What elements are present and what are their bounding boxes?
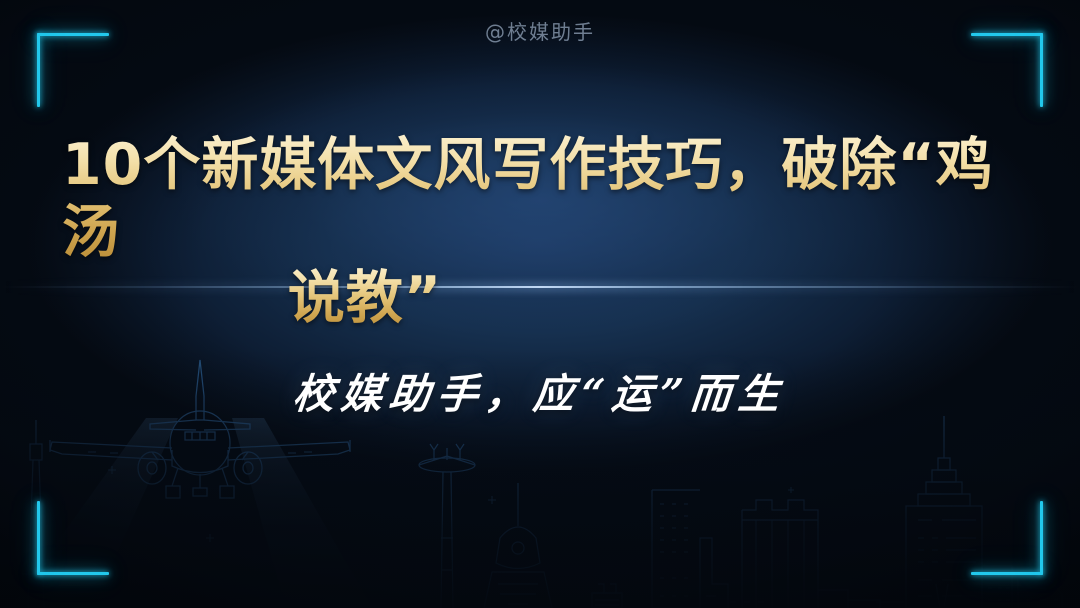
bracket-horizontal-segment bbox=[37, 572, 109, 575]
page-title-line-2: 说教” bbox=[62, 265, 1018, 332]
page-title-line-1: 10个新媒体文风写作技巧，破除“鸡汤 bbox=[62, 132, 1018, 265]
bracket-horizontal-segment bbox=[971, 572, 1043, 575]
corner-bracket-bottom-left bbox=[37, 501, 109, 575]
bracket-vertical-segment bbox=[1040, 501, 1043, 575]
subtitle-slogan: 校媒助手，应“运”而生 bbox=[0, 360, 1080, 420]
watermark-handle: @校媒助手 bbox=[0, 16, 1080, 45]
bracket-vertical-segment bbox=[37, 501, 40, 575]
corner-bracket-bottom-right bbox=[971, 501, 1043, 575]
title-block: 10个新媒体文风写作技巧，破除“鸡汤 说教” bbox=[62, 132, 1018, 332]
slide-canvas: @校媒助手 10个新媒体文风写作技巧，破除“鸡汤 说教” 校媒助手，应“运”而生 bbox=[0, 0, 1080, 608]
